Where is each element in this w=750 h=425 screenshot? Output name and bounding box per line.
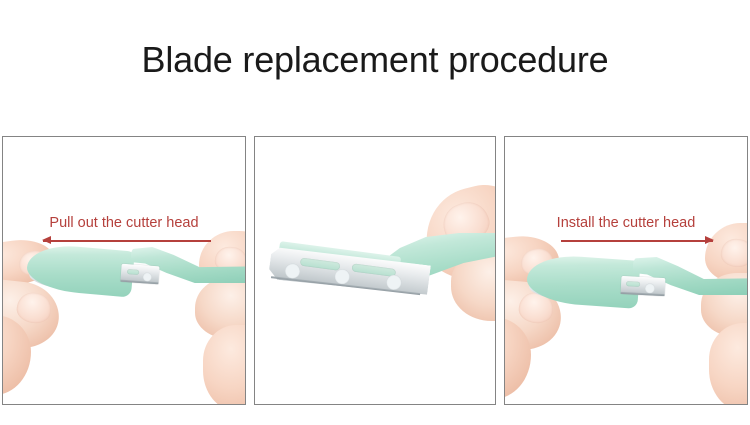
arrow-right-icon xyxy=(561,235,713,246)
blade-slot xyxy=(626,281,640,287)
arrow-left-icon xyxy=(43,235,211,246)
panel-1-caption: Pull out the cutter head xyxy=(3,215,245,231)
right-hand-gripping-handle xyxy=(689,227,748,405)
panel-3-caption: Install the cutter head xyxy=(505,215,747,231)
step-panel-2 xyxy=(254,136,496,405)
arrow-head xyxy=(42,236,51,244)
step-panel-3: Install the cutter head xyxy=(504,136,748,405)
blade-slot xyxy=(127,269,139,275)
arrow-shaft xyxy=(561,240,713,242)
blade-notch xyxy=(645,283,656,294)
right-hand-gripping-handle xyxy=(185,233,246,405)
hand-bulk xyxy=(709,323,748,405)
blade xyxy=(120,264,159,285)
panel-strip: Pull out the cutter head xyxy=(2,136,748,405)
blade xyxy=(621,276,666,296)
arrow-shaft xyxy=(43,240,211,242)
step-panel-1: Pull out the cutter head xyxy=(2,136,246,405)
arrow-head xyxy=(705,236,714,244)
page-title: Blade replacement procedure xyxy=(0,38,750,82)
hand-bulk xyxy=(203,325,246,405)
